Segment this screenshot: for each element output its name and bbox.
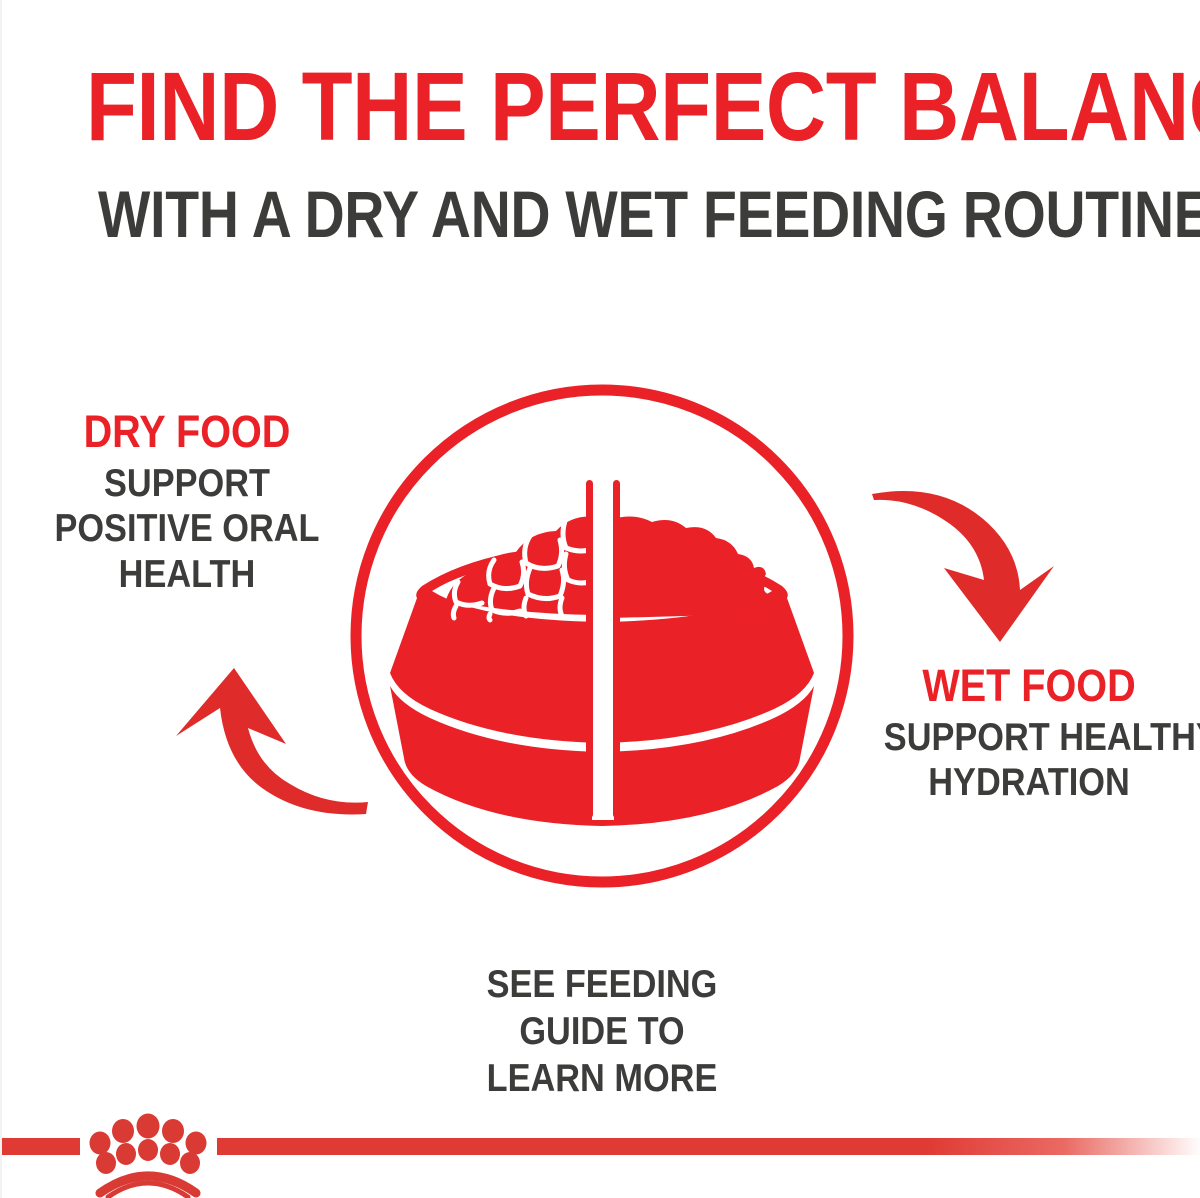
divider-line-right <box>613 480 620 818</box>
footer-rule-left <box>2 1138 80 1155</box>
wet-food-desc-line-2: HYDRATION <box>884 760 1174 805</box>
divider-line-left <box>586 480 593 818</box>
feeding-guide-cta[interactable]: SEE FEEDING GUIDE TO LEARN MORE <box>2 962 1200 1102</box>
crown-arc-base <box>100 1176 196 1197</box>
footer-rule-right <box>217 1138 1200 1155</box>
split-pet-food-bowl-in-circle-icon <box>334 368 870 904</box>
dry-food-label-block: DRY FOOD SUPPORT POSITIVE ORAL HEALTH <box>22 408 352 597</box>
wet-food-mound <box>610 516 768 618</box>
crown-dots <box>90 1114 207 1175</box>
wet-food-title: WET FOOD <box>884 662 1174 709</box>
crown-icon <box>80 1105 216 1198</box>
dry-food-desc-line-2: POSITIVE ORAL <box>42 506 332 551</box>
wet-food-desc-line-1: SUPPORT HEALTHY <box>884 715 1174 760</box>
wet-food-description: SUPPORT HEALTHY HYDRATION <box>884 715 1174 805</box>
infographic-page: FIND THE PERFECT BALANCE WITH A DRY AND … <box>0 0 1200 1198</box>
wet-food-label-block: WET FOOD SUPPORT HEALTHY HYDRATION <box>864 662 1194 806</box>
arrow-right-shape <box>872 491 1054 642</box>
cta-line-3: LEARN MORE <box>74 1056 1130 1103</box>
bowl-illustration <box>390 478 814 826</box>
cta-text: SEE FEEDING GUIDE TO LEARN MORE <box>74 962 1130 1102</box>
curved-arrow-down-right-icon <box>854 462 1074 657</box>
page-subtitle: WITH A DRY AND WET FEEDING ROUTINE <box>98 181 1106 247</box>
dry-food-desc-line-3: HEALTH <box>42 552 332 597</box>
dry-food-desc-line-1: SUPPORT <box>42 461 332 506</box>
headline-block: FIND THE PERFECT BALANCE WITH A DRY AND … <box>2 58 1200 247</box>
curved-arrow-up-left-icon <box>154 622 384 852</box>
cta-line-2: GUIDE TO <box>74 1009 1130 1056</box>
arrow-left-shape <box>176 668 368 814</box>
dry-food-title: DRY FOOD <box>42 408 332 455</box>
page-title: FIND THE PERFECT BALANCE <box>86 58 1118 155</box>
cta-line-1: SEE FEEDING <box>74 962 1130 1009</box>
dry-food-description: SUPPORT POSITIVE ORAL HEALTH <box>42 461 332 597</box>
divider-gap <box>592 478 614 820</box>
